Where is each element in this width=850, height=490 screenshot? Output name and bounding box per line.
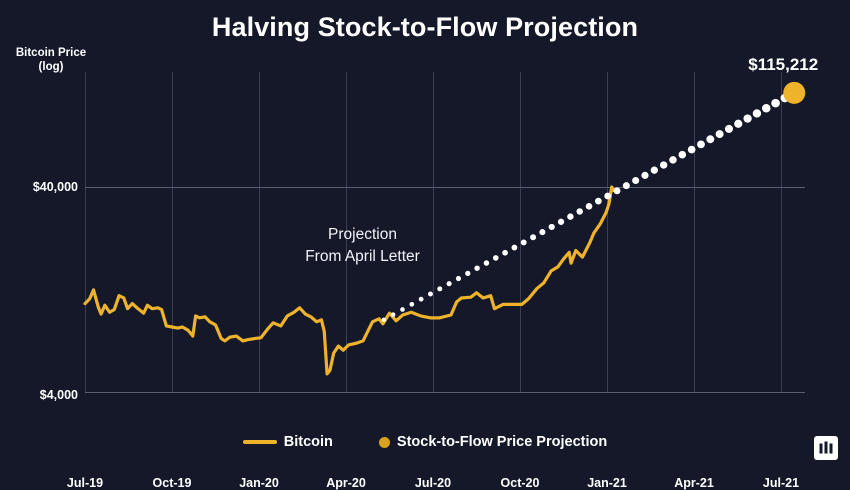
x-tick-label: Apr-20: [326, 476, 366, 490]
projection-dot: [725, 125, 733, 133]
y-axis-title: Bitcoin Price (log): [8, 46, 94, 74]
projection-dot: [762, 104, 771, 113]
chart-legend: Bitcoin Stock-to-Flow Price Projection: [0, 434, 850, 450]
gridline-horizontal-4000: [85, 392, 805, 393]
three-bars-logo: [814, 436, 838, 460]
projection-dot: [456, 276, 461, 281]
chart-title: Halving Stock-to-Flow Projection: [0, 12, 850, 43]
projection-dot: [419, 297, 424, 302]
projection-dot: [743, 114, 751, 122]
projection-dot: [660, 161, 667, 168]
projection-dot: [595, 198, 602, 205]
legend-label-stock-to-flow: Stock-to-Flow Price Projection: [397, 434, 607, 450]
projection-dot: [409, 302, 414, 307]
projection-dot: [400, 307, 405, 312]
projection-dot: [382, 318, 386, 322]
legend-line-swatch-icon: [243, 440, 277, 444]
endpoint-value-label: $115,212: [748, 55, 818, 75]
annotation-projection-note: Projection From April Letter: [225, 224, 500, 268]
legend-item-stock-to-flow[interactable]: Stock-to-Flow Price Projection: [379, 434, 607, 450]
chart-container: Halving Stock-to-Flow Projection Bitcoin…: [0, 0, 850, 469]
projection-dot: [771, 99, 780, 108]
x-tick-label: Apr-21: [674, 476, 714, 490]
x-tick-label: Jul-19: [67, 476, 103, 490]
projection-dot: [669, 156, 677, 164]
projection-dot: [651, 167, 658, 174]
projection-dot: [632, 177, 639, 184]
x-tick-label: Jul-20: [415, 476, 451, 490]
projection-dot: [753, 109, 761, 117]
y-tick-label-40000: $40,000: [33, 180, 78, 194]
projection-dot: [447, 281, 452, 286]
projection-dot: [512, 245, 518, 251]
projection-dot: [716, 130, 724, 138]
y-tick-label-4000: $4,000: [40, 388, 78, 402]
projection-dot: [706, 135, 714, 143]
legend-dot-swatch-icon: [379, 437, 390, 448]
projection-dot: [734, 120, 742, 128]
bitcoin-price-line: [85, 187, 614, 374]
legend-label-bitcoin: Bitcoin: [284, 434, 333, 450]
annotation-line1: Projection: [328, 226, 397, 243]
projection-endpoint-marker[interactable]: [783, 82, 805, 104]
y-axis-title-line2: (log): [8, 60, 94, 74]
projection-dot: [539, 229, 545, 235]
projection-dot: [604, 193, 611, 200]
x-tick-label: Oct-19: [153, 476, 192, 490]
projection-dot: [521, 239, 527, 245]
projection-dot: [549, 224, 555, 230]
projection-dot: [679, 151, 687, 159]
projection-dot: [437, 286, 442, 291]
projection-dot: [391, 312, 396, 317]
y-axis-title-line1: Bitcoin Price: [16, 47, 86, 59]
three-bars-logo-icon: [819, 441, 833, 456]
x-tick-label: Jan-20: [239, 476, 279, 490]
projection-dot: [576, 208, 583, 215]
projection-dot: [697, 141, 705, 149]
projection-dot: [614, 187, 621, 194]
x-tick-label: Jan-21: [587, 476, 627, 490]
projection-dot: [586, 203, 593, 210]
projection-dot: [623, 182, 630, 189]
x-tick-label: Jul-21: [763, 476, 799, 490]
projection-dot: [688, 146, 696, 154]
projection-dot: [502, 250, 508, 256]
stock-to-flow-projection-dots: [382, 88, 799, 322]
projection-dot: [428, 292, 433, 297]
projection-dot: [465, 271, 470, 276]
projection-dot: [641, 172, 648, 179]
annotation-line2: From April Letter: [225, 246, 500, 268]
projection-dot: [558, 219, 564, 225]
projection-dot: [567, 213, 573, 219]
projection-dot: [530, 234, 536, 240]
legend-item-bitcoin[interactable]: Bitcoin: [243, 434, 333, 450]
x-tick-label: Oct-20: [501, 476, 540, 490]
